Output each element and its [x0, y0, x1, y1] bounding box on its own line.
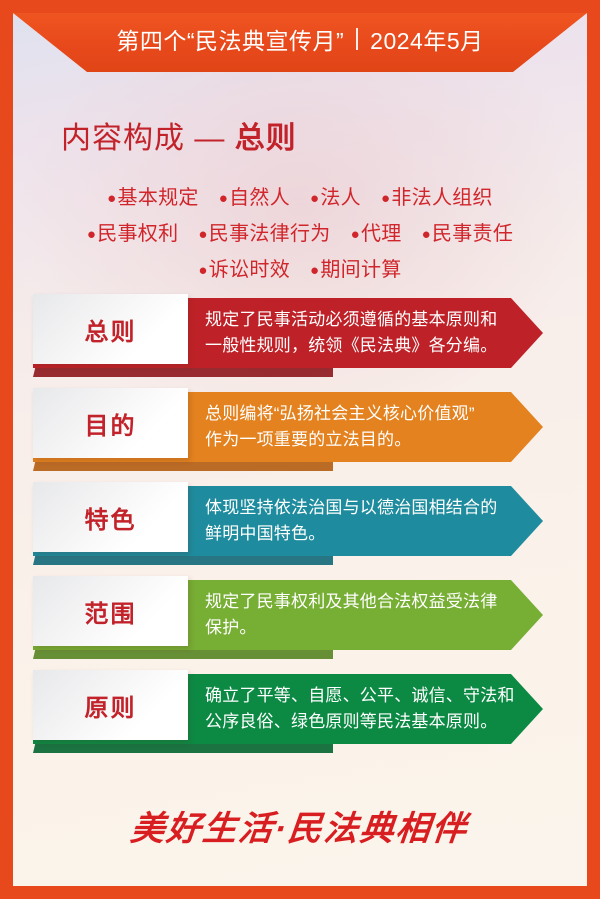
- page-title-dash: —: [194, 122, 225, 155]
- topic-item: ●诉讼时效: [198, 253, 290, 282]
- bullet-dot-icon: ●: [310, 190, 319, 207]
- arrow-description: 总则编将“弘扬社会主义核心价值观” 作为一项重要的立法目的。: [205, 392, 515, 462]
- bullet-dot-icon: ●: [219, 190, 228, 207]
- arrow-description-line: 保护。: [205, 615, 515, 641]
- topic-item-label: 代理: [361, 223, 402, 245]
- topic-item-label: 民事权利: [97, 223, 178, 245]
- bullet-dot-icon: ●: [381, 190, 390, 207]
- page-title-emphasis: 总则: [235, 122, 297, 155]
- topic-item: ●民事责任: [422, 217, 514, 246]
- topic-item: ●民事法律行为: [198, 217, 330, 246]
- topic-list: ●基本规定 ●自然人 ●法人 ●非法人组织 ●民事权利 ●民事法律行为 ●代理 …: [13, 181, 587, 289]
- arrow-label-text: 范围: [85, 594, 137, 629]
- bullet-dot-icon: ●: [198, 262, 207, 279]
- arrow-description-line: 总则编将“弘扬社会主义核心价值观”: [205, 401, 515, 427]
- arrow-label-text: 目的: [85, 406, 137, 441]
- arrow-bar-wrapper: 总则 规定了民事活动必须遵循的基本原则和 一般性规则，统领《民法典》各分编。: [33, 298, 543, 370]
- header-divider: [356, 28, 358, 50]
- footer-slogan: 美好生活·民法典相伴: [129, 801, 471, 850]
- topic-item: ●法人: [310, 181, 361, 210]
- arrow-row-yuanze: 原则 确立了平等、自愿、公平、诚信、守法和 公序良俗、绿色原则等民法基本原则。: [13, 666, 587, 762]
- header-banner: 第四个“民法典宣传月” 2024年5月: [13, 13, 587, 65]
- header-date: 2024年5月: [370, 22, 483, 56]
- arrow-description-line: 鲜明中国特色。: [205, 521, 515, 547]
- bullet-dot-icon: ●: [310, 262, 319, 279]
- arrow-bar-wrapper: 范围 规定了民事权利及其他合法权益受法律 保护。: [33, 580, 543, 652]
- topic-item-label: 基本规定: [118, 187, 199, 209]
- arrow-description: 规定了民事活动必须遵循的基本原则和 一般性规则，统领《民法典》各分编。: [205, 298, 515, 368]
- bullet-dot-icon: ●: [87, 226, 96, 243]
- topic-item: ●期间计算: [310, 253, 402, 282]
- arrow-label-card: 特色: [33, 482, 188, 552]
- arrow-description-line: 确立了平等、自愿、公平、诚信、守法和: [205, 683, 515, 709]
- arrow-description-line: 公序良俗、绿色原则等民法基本原则。: [205, 709, 515, 735]
- bullet-dot-icon: ●: [107, 190, 116, 207]
- footer: 美好生活·民法典相伴: [13, 801, 587, 850]
- arrow-label-text: 特色: [85, 500, 137, 535]
- arrow-description: 规定了民事权利及其他合法权益受法律 保护。: [205, 580, 515, 650]
- topic-item: ●自然人: [219, 181, 290, 210]
- page-title: 内容构成 — 总则: [61, 113, 297, 157]
- arrow-bar-wrapper: 特色 体现坚持依法治国与以德治国相结合的 鲜明中国特色。: [33, 486, 543, 558]
- topic-row: ●基本规定 ●自然人 ●法人 ●非法人组织: [13, 181, 587, 210]
- arrow-row-zongze: 总则 规定了民事活动必须遵循的基本原则和 一般性规则，统领《民法典》各分编。: [13, 290, 587, 384]
- topic-item-label: 民事法律行为: [209, 223, 331, 245]
- arrow-label-card: 目的: [33, 388, 188, 458]
- arrow-label-card: 范围: [33, 576, 188, 646]
- header-campaign-title: 第四个“民法典宣传月”: [116, 22, 344, 56]
- bullet-dot-icon: ●: [351, 226, 360, 243]
- topic-row: ●民事权利 ●民事法律行为 ●代理 ●民事责任: [13, 217, 587, 246]
- arrow-label-text: 原则: [85, 688, 137, 723]
- arrow-description-line: 一般性规则，统领《民法典》各分编。: [205, 333, 515, 359]
- arrow-bar-wrapper: 原则 确立了平等、自愿、公平、诚信、守法和 公序良俗、绿色原则等民法基本原则。: [33, 674, 543, 746]
- topic-item: ●基本规定: [107, 181, 199, 210]
- arrow-bar-wrapper: 目的 总则编将“弘扬社会主义核心价值观” 作为一项重要的立法目的。: [33, 392, 543, 464]
- poster-root: 第四个“民法典宣传月” 2024年5月 内容构成 — 总则 ●基本规定 ●自然人…: [0, 0, 600, 899]
- topic-item-label: 诉讼时效: [209, 259, 290, 281]
- arrow-row-list: 总则 规定了民事活动必须遵循的基本原则和 一般性规则，统领《民法典》各分编。 目…: [13, 290, 587, 762]
- arrow-description-line: 作为一项重要的立法目的。: [205, 427, 515, 453]
- bullet-dot-icon: ●: [422, 226, 431, 243]
- arrow-label-text: 总则: [85, 312, 137, 347]
- poster-inner-panel: 第四个“民法典宣传月” 2024年5月 内容构成 — 总则 ●基本规定 ●自然人…: [13, 13, 587, 886]
- arrow-description-line: 规定了民事活动必须遵循的基本原则和: [205, 307, 515, 333]
- arrow-description: 确立了平等、自愿、公平、诚信、守法和 公序良俗、绿色原则等民法基本原则。: [205, 674, 515, 744]
- arrow-row-fanwei: 范围 规定了民事权利及其他合法权益受法律 保护。: [13, 572, 587, 666]
- topic-item-label: 非法人组织: [391, 187, 493, 209]
- arrow-row-tese: 特色 体现坚持依法治国与以德治国相结合的 鲜明中国特色。: [13, 478, 587, 572]
- arrow-description: 体现坚持依法治国与以德治国相结合的 鲜明中国特色。: [205, 486, 515, 556]
- arrow-row-mudi: 目的 总则编将“弘扬社会主义核心价值观” 作为一项重要的立法目的。: [13, 384, 587, 478]
- topic-item-label: 法人: [320, 187, 361, 209]
- topic-item: ●民事权利: [87, 217, 179, 246]
- bullet-dot-icon: ●: [198, 226, 207, 243]
- arrow-description-line: 体现坚持依法治国与以德治国相结合的: [205, 495, 515, 521]
- topic-item: ●代理: [351, 217, 402, 246]
- topic-row: ●诉讼时效 ●期间计算: [13, 253, 587, 282]
- arrow-label-card: 原则: [33, 670, 188, 740]
- topic-item: ●非法人组织: [381, 181, 493, 210]
- topic-item-label: 期间计算: [320, 259, 401, 281]
- topic-item-label: 自然人: [229, 187, 290, 209]
- arrow-description-line: 规定了民事权利及其他合法权益受法律: [205, 589, 515, 615]
- page-title-lead: 内容构成: [61, 122, 185, 155]
- topic-item-label: 民事责任: [432, 223, 513, 245]
- arrow-label-card: 总则: [33, 294, 188, 364]
